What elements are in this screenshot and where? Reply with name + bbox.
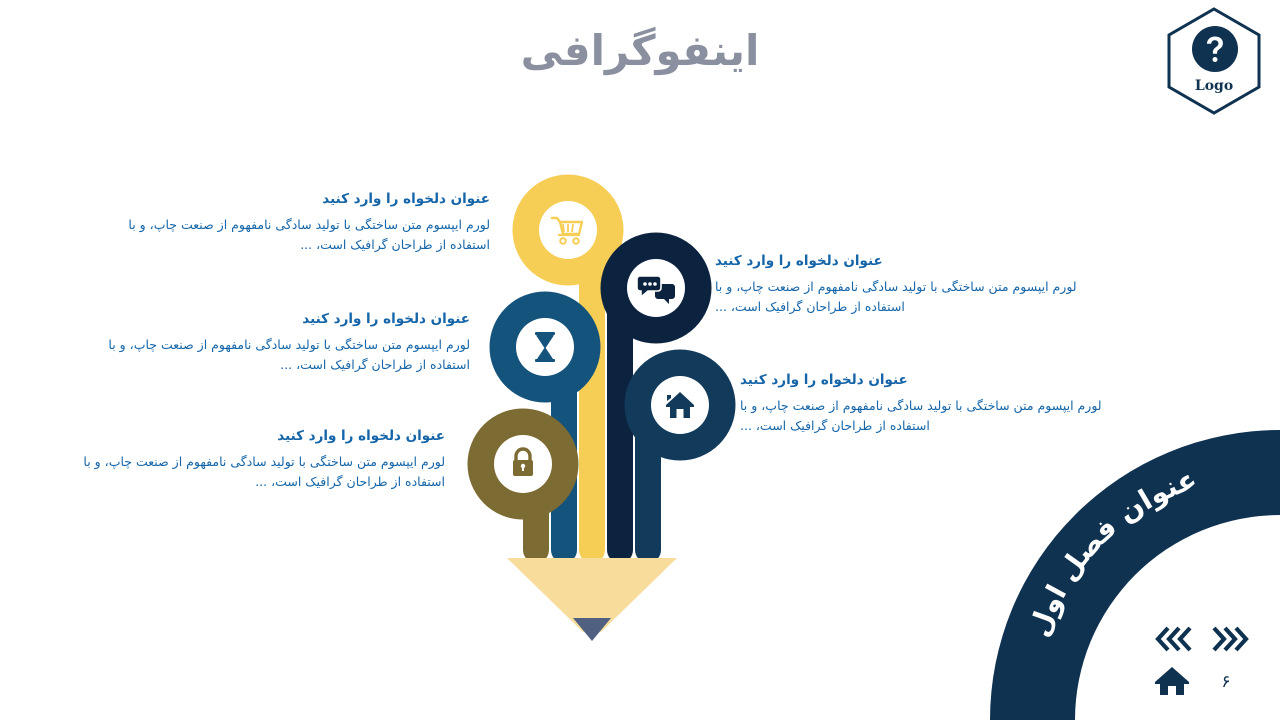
item-body: لورم ایپسوم متن ساختگی با تولید سادگی نا… [715, 277, 1115, 318]
item-text-cart: عنوان دلخواه را وارد کنید لورم ایپسوم مت… [90, 190, 490, 255]
pencil-tip-shape [573, 618, 611, 641]
node-lock[interactable] [481, 422, 565, 506]
item-heading: عنوان دلخواه را وارد کنید [60, 427, 445, 447]
node-cart[interactable] [526, 188, 610, 272]
item-text-chat: عنوان دلخواه را وارد کنید لورم ایپسوم مت… [715, 252, 1115, 317]
item-heading: عنوان دلخواه را وارد کنید [740, 371, 1118, 391]
infographic-pencil-graphic [455, 170, 755, 650]
page-number: ۶ [1204, 666, 1248, 698]
node-home[interactable] [638, 363, 722, 447]
item-body: لورم ایپسوم متن ساختگی با تولید سادگی نا… [60, 452, 445, 493]
slide-canvas: اینفوگرافی Logo [0, 0, 1280, 720]
node-chat[interactable] [614, 246, 698, 330]
item-text-hourglass: عنوان دلخواه را وارد کنید لورم ایپسوم مت… [70, 310, 470, 375]
item-text-lock: عنوان دلخواه را وارد کنید لورم ایپسوم مت… [60, 427, 445, 492]
nav-controls: ۶ [1148, 622, 1258, 702]
item-heading: عنوان دلخواه را وارد کنید [70, 310, 470, 330]
page-title: اینفوگرافی [0, 26, 1280, 75]
logo[interactable]: Logo [1164, 6, 1264, 128]
triple-chevron-right-icon[interactable] [1206, 624, 1254, 654]
home-icon[interactable] [1152, 664, 1192, 698]
question-mark-icon [1192, 26, 1238, 72]
triple-chevron-left-icon[interactable] [1150, 624, 1198, 654]
item-heading: عنوان دلخواه را وارد کنید [715, 252, 1115, 272]
item-body: لورم ایپسوم متن ساختگی با تولید سادگی نا… [70, 335, 470, 376]
item-body: لورم ایپسوم متن ساختگی با تولید سادگی نا… [90, 215, 490, 256]
node-hourglass[interactable] [503, 305, 587, 389]
logo-label: Logo [1164, 78, 1264, 94]
item-heading: عنوان دلخواه را وارد کنید [90, 190, 490, 210]
